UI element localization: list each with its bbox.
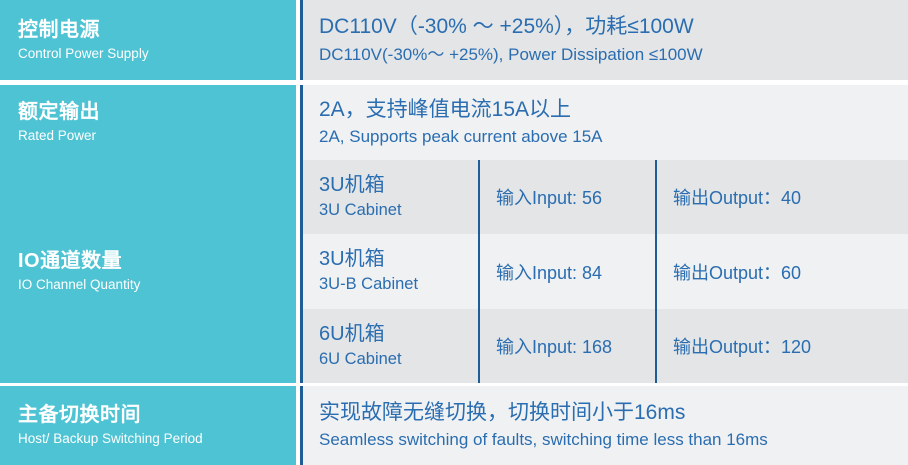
row-content-host-backup-switching-period: 实现故障无缝切换，切换时间小于16ms Seamless switching o… [303,386,908,465]
io-cabinet-name-cn: 3U机箱 [319,247,478,272]
row-content-en: Seamless switching of faults, switching … [319,429,908,452]
io-input-value: 输入Input: 56 [480,160,655,234]
io-cabinet-name-en: 3U Cabinet [319,200,478,221]
row-label-cn: 控制电源 [18,18,296,43]
io-cabinet-name-cn: 3U机箱 [319,173,478,198]
io-cabinet-name: 3U机箱 3U Cabinet [303,160,478,234]
row-label-control-power-supply: 控制电源 Control Power Supply [0,0,296,80]
io-output-value: 输出Output：120 [657,309,908,383]
io-input-value: 输入Input: 168 [480,309,655,383]
row-label-en: Rated Power [18,127,296,145]
row-label-cn: IO通道数量 [18,249,296,274]
io-table-row: 3U机箱 3U Cabinet 输入Input: 56 输出Output：40 [303,160,908,234]
row-content-cn: 实现故障无缝切换，切换时间小于16ms [319,399,908,426]
io-cabinet-name-cn: 6U机箱 [319,322,478,347]
io-table-row: 6U机箱 6U Cabinet 输入Input: 168 输出Output：12… [303,309,908,383]
io-cabinet-name-en: 3U-B Cabinet [319,274,478,295]
row-label-cn: 额定输出 [18,100,296,125]
io-output-value: 输出Output：40 [657,160,908,234]
row-content-en: 2A, Supports peak current above 15A [319,126,908,149]
row-label-host-backup-switching-period: 主备切换时间 Host/ Backup Switching Period [0,386,296,465]
row-label-cn: 主备切换时间 [18,403,296,428]
row-label-io-channel-quantity: IO通道数量 IO Channel Quantity [0,160,296,383]
row-content-control-power-supply: DC110V（-30% 〜 +25%），功耗≤100W DC110V(-30%〜… [303,0,908,80]
io-output-value: 输出Output：60 [657,234,908,309]
row-label-rated-power: 额定输出 Rated Power [0,85,296,160]
io-cabinet-name: 3U机箱 3U-B Cabinet [303,234,478,309]
io-cabinet-name: 6U机箱 6U Cabinet [303,309,478,383]
io-input-value: 输入Input: 84 [480,234,655,309]
row-label-en: Control Power Supply [18,45,296,63]
row-label-en: Host/ Backup Switching Period [18,430,296,448]
specification-table: 控制电源 Control Power Supply DC110V（-30% 〜 … [0,0,908,465]
row-content-cn: DC110V（-30% 〜 +25%），功耗≤100W [319,13,908,40]
io-table-row: 3U机箱 3U-B Cabinet 输入Input: 84 输出Output：6… [303,234,908,309]
io-cabinet-name-en: 6U Cabinet [319,349,478,370]
row-content-cn: 2A，支持峰值电流15A以上 [319,96,908,123]
row-content-rated-power: 2A，支持峰值电流15A以上 2A, Supports peak current… [303,85,908,160]
row-content-en: DC110V(-30%〜 +25%), Power Dissipation ≤1… [319,44,908,67]
row-label-en: IO Channel Quantity [18,276,296,294]
